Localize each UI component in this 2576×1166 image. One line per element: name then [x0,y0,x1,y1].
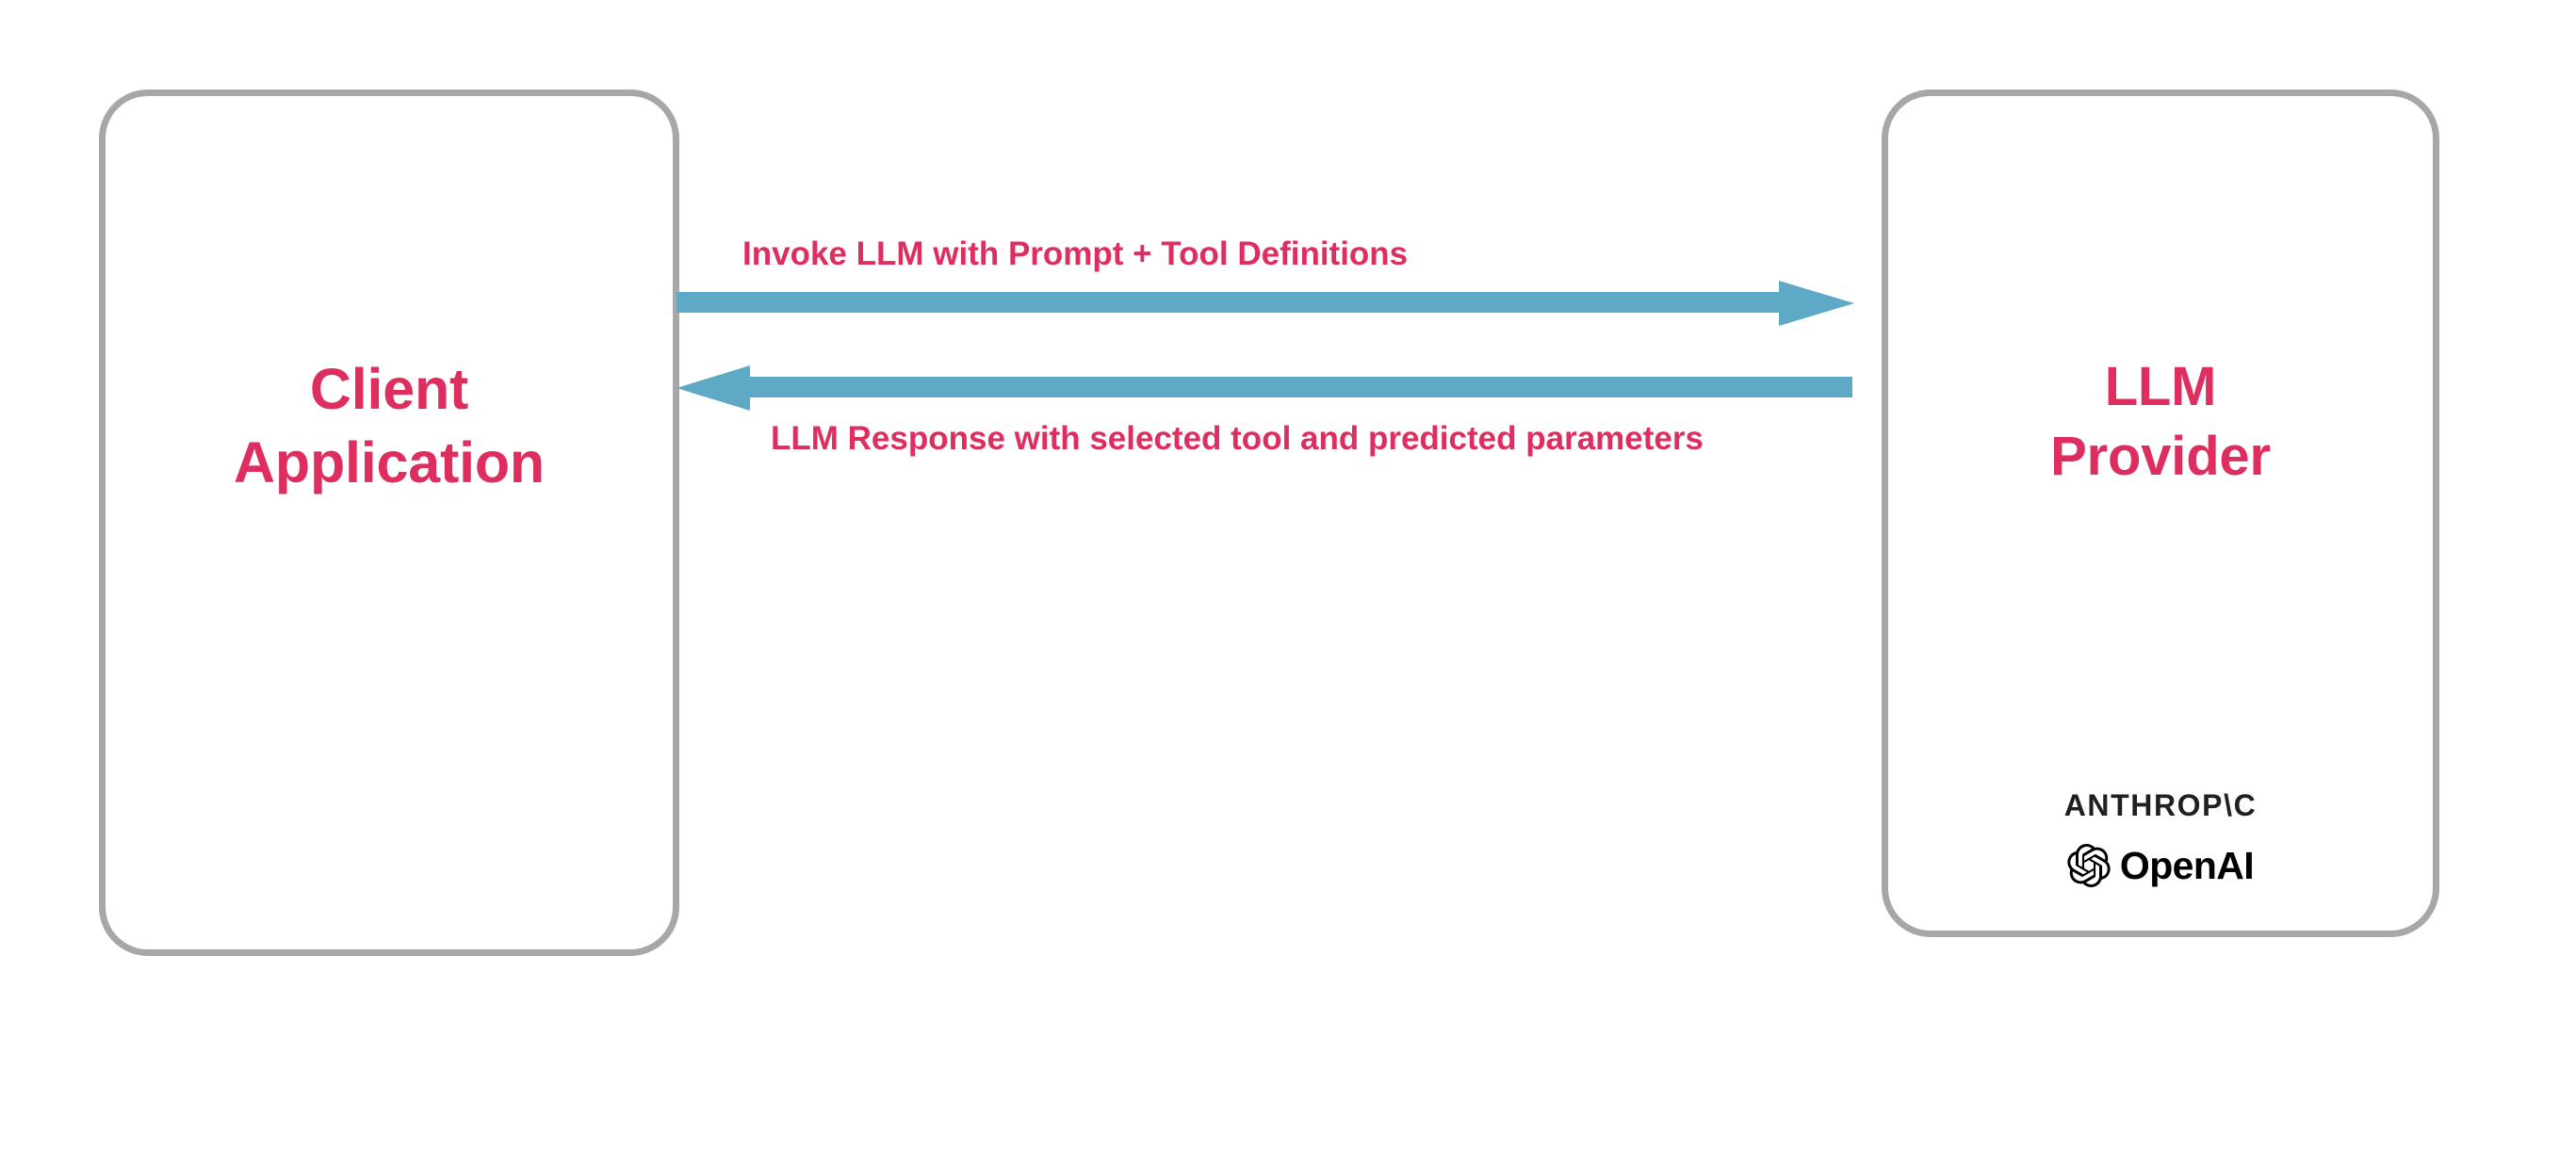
diagram-canvas: Client Application LLM Provider ANTHROP\… [0,0,2576,1166]
request-arrow-label: Invoke LLM with Prompt + Tool Definition… [742,237,1408,270]
response-arrow-label: LLM Response with selected tool and pred… [771,422,1704,455]
request-arrow [677,279,1854,328]
openai-logo: OpenAI [2067,844,2254,887]
anthropic-wordmark-icon: ANTHROP\C [2064,788,2258,823]
node-llm-provider-label: LLM Provider [1888,352,2433,492]
openai-wordmark-label: OpenAI [2120,847,2254,885]
openai-blossom-icon [2067,844,2111,887]
node-llm-provider[interactable]: LLM Provider ANTHROP\C OpenAI [1882,89,2439,937]
response-arrow [677,364,1852,413]
node-client-application-label: Client Application [106,352,673,499]
provider-logo-group: ANTHROP\C OpenAI [1888,788,2433,887]
node-client-application[interactable]: Client Application [99,89,679,956]
